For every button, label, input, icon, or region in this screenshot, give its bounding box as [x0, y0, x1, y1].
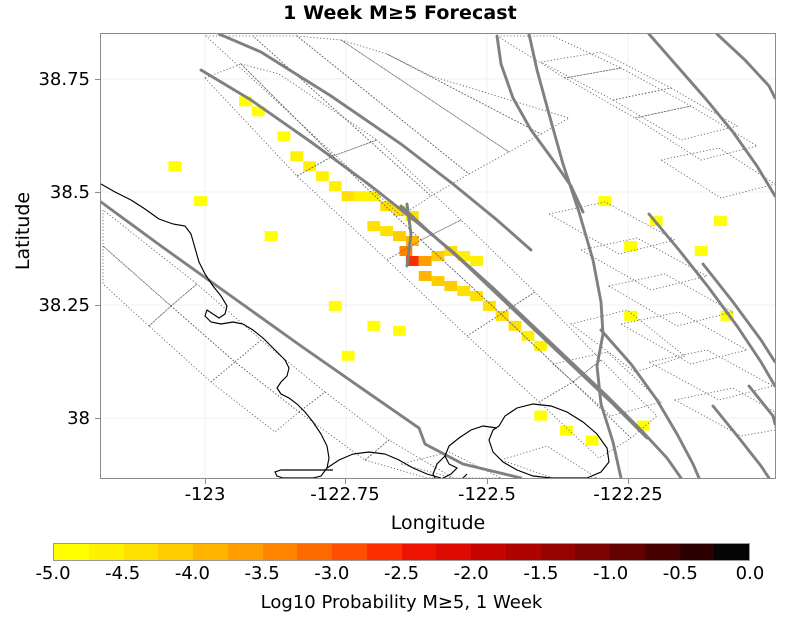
x-tick-mark	[628, 479, 629, 484]
probability-cell	[714, 216, 727, 226]
colorbar-tick-label: -2.5	[362, 563, 442, 584]
colorbar-swatch-8	[332, 544, 367, 560]
x-tick-label: -123	[150, 484, 260, 505]
x-tick-label: -122.5	[432, 484, 542, 505]
colorbar-swatch-4	[193, 544, 228, 560]
probability-cell	[316, 171, 329, 181]
colorbar-swatch-17	[645, 544, 680, 560]
probability-cell	[432, 276, 445, 286]
colorbar-title: Log10 Probability M≥5, 1 Week	[53, 592, 750, 613]
colorbar-swatch-15	[575, 544, 610, 560]
y-tick-label: 38.5	[4, 182, 90, 203]
probability-cell	[342, 351, 355, 361]
x-tick-mark	[345, 479, 346, 484]
probability-cell	[393, 231, 406, 241]
probability-cell	[168, 161, 181, 171]
probability-cell	[419, 271, 432, 281]
colorbar-tick-label: -5.0	[13, 563, 93, 584]
x-tick-mark	[487, 479, 488, 484]
probability-cell	[303, 161, 316, 171]
colorbar-tick-label: -4.0	[152, 563, 232, 584]
colorbar-swatch-9	[367, 544, 402, 560]
probability-cell	[194, 196, 207, 206]
probability-cell	[406, 236, 419, 246]
colorbar-swatch-6	[263, 544, 298, 560]
map-plot-area[interactable]	[100, 33, 776, 479]
probability-cell	[470, 256, 483, 266]
probability-cell	[278, 131, 291, 141]
y-tick-label: 38.25	[4, 295, 90, 316]
colorbar-tick-label: -3.0	[292, 563, 372, 584]
probability-cell	[457, 286, 470, 296]
x-axis-label: Longitude	[100, 512, 776, 534]
probability-cell	[329, 301, 342, 311]
probability-cell	[444, 281, 457, 291]
colorbar-swatch-3	[158, 544, 193, 560]
y-tick-label: 38	[4, 408, 90, 429]
colorbar[interactable]: -5.0-4.5-4.0-3.5-3.0-2.5-2.0-1.5-1.0-0.5…	[53, 543, 750, 561]
probability-cell	[355, 191, 368, 201]
probability-cell	[290, 151, 303, 161]
map-canvas	[101, 34, 775, 478]
probability-cell-layer	[168, 96, 733, 445]
colorbar-swatch-18	[680, 544, 715, 560]
colorbar-swatch-1	[89, 544, 124, 560]
colorbar-tick-label: -3.5	[222, 563, 302, 584]
colorbar-swatch-0	[54, 544, 89, 560]
probability-cell	[560, 426, 573, 436]
probability-cell	[509, 321, 522, 331]
probability-cell	[342, 191, 355, 201]
x-tick-mark	[205, 479, 206, 484]
colorbar-swatch-10	[402, 544, 437, 560]
probability-cell	[483, 301, 496, 311]
colorbar-swatch-11	[436, 544, 471, 560]
colorbar-tick-label: -0.5	[640, 563, 720, 584]
colorbar-swatch-13	[506, 544, 541, 560]
x-tick-label: -122.75	[290, 484, 400, 505]
probability-cell	[367, 221, 380, 231]
probability-cell	[624, 311, 637, 321]
probability-cell	[329, 181, 342, 191]
probability-cell	[624, 241, 637, 251]
forecast-figure: 1 Week M≥5 Forecast Latitude 38.75 38.5 …	[0, 0, 800, 627]
colorbar-swatch-5	[228, 544, 263, 560]
x-tick-label: -122.25	[573, 484, 683, 505]
probability-cell	[521, 331, 534, 341]
colorbar-tick-label: -1.0	[571, 563, 651, 584]
colorbar-swatch-2	[124, 544, 159, 560]
probability-cell	[534, 341, 547, 351]
probability-cell	[534, 411, 547, 421]
probability-cell	[265, 231, 278, 241]
probability-cell	[380, 226, 393, 236]
colorbar-tick-label: 0.0	[710, 563, 790, 584]
probability-cell	[695, 246, 708, 256]
colorbar-tick-label: -2.0	[431, 563, 511, 584]
y-tick-label: 38.75	[4, 69, 90, 90]
colorbar-swatch-12	[471, 544, 506, 560]
colorbar-swatch-16	[610, 544, 645, 560]
colorbar-swatch-7	[297, 544, 332, 560]
colorbar-tick-label: -4.5	[83, 563, 163, 584]
probability-cell	[393, 326, 406, 336]
probability-cell	[419, 256, 432, 266]
probability-cell	[586, 436, 599, 446]
page-title: 1 Week M≥5 Forecast	[0, 2, 800, 24]
probability-cell	[598, 196, 611, 206]
probability-cell	[367, 321, 380, 331]
colorbar-gradient[interactable]	[53, 543, 750, 561]
colorbar-tick-label: -1.5	[501, 563, 581, 584]
colorbar-swatch-14	[541, 544, 576, 560]
colorbar-swatch-19	[714, 544, 749, 560]
